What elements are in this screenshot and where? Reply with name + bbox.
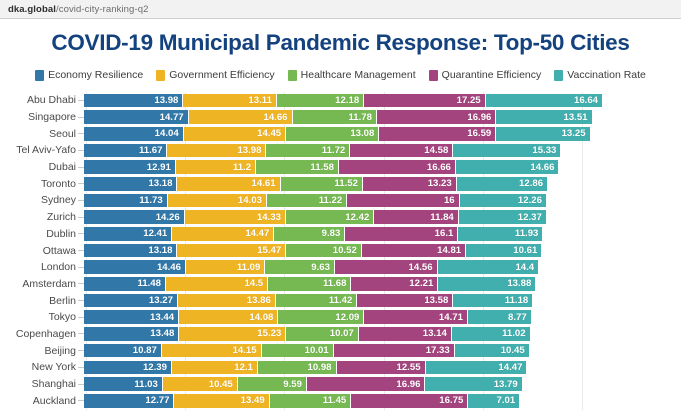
bar-value-label: 16 <box>444 195 455 206</box>
bar-value-label: 13.08 <box>350 128 374 139</box>
bar-value-label: 9.63 <box>311 262 330 273</box>
bar-value-label: 10.52 <box>333 245 357 256</box>
url-domain: dka.global <box>8 4 56 15</box>
legend-item[interactable]: Healthcare Management <box>288 69 416 81</box>
bar-segment[interactable]: 14.56 <box>335 260 438 274</box>
bar-value-label: 13.98 <box>154 95 178 106</box>
bar-value-label: 17.33 <box>426 345 450 356</box>
bar-segment[interactable]: 9.59 <box>238 377 307 391</box>
bar-value-label: 13.88 <box>507 278 531 289</box>
page-content: COVID-19 Municipal Pandemic Response: To… <box>0 19 681 412</box>
bar-segment[interactable]: 13.08 <box>286 127 379 141</box>
legend-label: Government Efficiency <box>169 69 274 81</box>
bar-segment[interactable]: 15.23 <box>179 327 286 341</box>
stacked-bar: 11.7314.0311.221612.26 <box>84 194 546 208</box>
chart-row[interactable]: Abu Dhabi13.9813.1112.1817.2516.64 <box>0 92 681 109</box>
bar-segment[interactable]: 11.48 <box>84 277 166 291</box>
bar-segment[interactable]: 14.61 <box>177 177 280 191</box>
chart-row[interactable]: Dubai12.9111.211.5816.6614.66 <box>0 159 681 176</box>
bar-value-label: 14.08 <box>249 312 273 323</box>
row-label: Seoul <box>0 128 78 140</box>
bar-segment[interactable]: 14.47 <box>426 361 527 375</box>
chart-row[interactable]: Shanghai11.0310.459.5916.9613.79 <box>0 376 681 393</box>
bar-segment[interactable]: 13.98 <box>84 94 183 108</box>
legend-swatch-icon <box>429 70 438 81</box>
bar-segment[interactable]: 10.98 <box>258 361 337 375</box>
bar-value-label: 12.37 <box>518 212 542 223</box>
bar-value-label: 12.1 <box>234 362 253 373</box>
stacked-bar: 14.7714.6611.7816.9613.51 <box>84 110 592 124</box>
bar-segment[interactable]: 10.87 <box>84 344 162 358</box>
bar-segment[interactable]: 14.71 <box>364 310 468 324</box>
bar-segment[interactable]: 15.33 <box>453 144 560 158</box>
bar-value-label: 10.01 <box>305 345 329 356</box>
stacked-bar: 11.6713.9811.7214.5815.33 <box>84 144 560 158</box>
bar-segment[interactable]: 12.09 <box>278 310 364 324</box>
bar-value-label: 12.42 <box>345 212 369 223</box>
bar-value-label: 13.79 <box>494 379 518 390</box>
bar-segment[interactable]: 13.79 <box>425 377 521 391</box>
bar-segment[interactable]: 14.04 <box>84 127 184 141</box>
bar-segment[interactable]: 12.39 <box>84 361 172 375</box>
bar-segment[interactable]: 16.96 <box>377 110 496 124</box>
stacked-bar: 13.1814.6111.5213.2312.86 <box>84 177 547 191</box>
bar-value-label: 13.18 <box>148 245 172 256</box>
url-text: dka.global/covid-city-ranking-q2 <box>8 4 148 15</box>
bar-value-label: 15.33 <box>532 145 556 156</box>
chart-row[interactable]: Beijing10.8714.1510.0117.3310.45 <box>0 342 681 359</box>
bar-segment[interactable]: 11.72 <box>266 144 350 158</box>
bar-value-label: 13.98 <box>237 145 261 156</box>
bar-value-label: 14.33 <box>257 212 281 223</box>
bar-segment[interactable]: 9.83 <box>274 227 345 241</box>
bar-value-label: 11.78 <box>349 112 372 123</box>
bar-segment[interactable]: 16.1 <box>345 227 458 241</box>
bar-segment[interactable]: 10.52 <box>286 244 362 258</box>
bar-value-label: 11.68 <box>323 278 346 289</box>
bar-value-label: 11.45 <box>323 395 346 406</box>
bar-segment[interactable]: 14.03 <box>168 194 267 208</box>
bar-segment[interactable]: 11.03 <box>84 377 163 391</box>
bar-value-label: 10.98 <box>307 362 331 373</box>
bar-segment[interactable]: 14.47 <box>172 227 274 241</box>
bar-segment[interactable]: 13.51 <box>496 110 591 124</box>
legend-item[interactable]: Economy Resilience <box>35 69 143 81</box>
bar-segment[interactable]: 13.49 <box>174 394 269 408</box>
bar-segment[interactable]: 13.48 <box>84 327 179 341</box>
bar-segment[interactable]: 13.18 <box>84 177 177 191</box>
bar-segment[interactable]: 10.61 <box>466 244 541 258</box>
bar-value-label: 12.86 <box>519 178 543 189</box>
bar-value-label: 12.41 <box>143 228 167 239</box>
bar-value-label: 13.58 <box>424 295 448 306</box>
legend-swatch-icon <box>156 70 165 81</box>
bar-segment[interactable]: 12.42 <box>286 210 374 224</box>
row-label: Auckland <box>0 395 78 407</box>
bar-segment[interactable]: 14.66 <box>456 160 559 174</box>
bar-value-label: 16.75 <box>439 395 463 406</box>
bar-segment[interactable]: 16.75 <box>351 394 468 408</box>
legend-label: Quarantine Efficiency <box>442 69 542 81</box>
bar-segment[interactable]: 13.86 <box>178 294 276 308</box>
bar-value-label: 14.47 <box>245 228 269 239</box>
bar-value-label: 14.03 <box>238 195 262 206</box>
bar-value-label: 10.61 <box>513 245 537 256</box>
chart-row[interactable]: Copenhagen13.4815.2310.0713.1411.02 <box>0 326 681 343</box>
bar-value-label: 11.72 <box>322 145 345 156</box>
bar-value-label: 13.48 <box>150 328 174 339</box>
bar-value-label: 13.14 <box>423 328 447 339</box>
bar-value-label: 11.2 <box>233 162 251 173</box>
bar-segment[interactable]: 11.02 <box>452 327 530 341</box>
bar-value-label: 13.23 <box>428 178 452 189</box>
chart-row[interactable]: Berlin13.2713.8611.4213.5811.18 <box>0 292 681 309</box>
bar-segment[interactable]: 14.15 <box>162 344 262 358</box>
legend-label: Economy Resilience <box>48 69 143 81</box>
bar-segment[interactable]: 11.18 <box>453 294 532 308</box>
bar-value-label: 11.52 <box>334 178 357 189</box>
chart-row[interactable]: Amsterdam11.4814.511.6812.2113.88 <box>0 276 681 293</box>
chart-legend: Economy ResilienceGovernment EfficiencyH… <box>0 68 681 82</box>
bar-value-label: 10.07 <box>330 328 354 339</box>
bar-segment[interactable]: 13.18 <box>84 244 177 258</box>
stacked-bar: 11.0310.459.5916.9613.79 <box>84 377 522 391</box>
bar-value-label: 14.45 <box>257 128 281 139</box>
chart-row[interactable]: Auckland12.7713.4911.4516.757.01 <box>0 392 681 409</box>
stacked-bar: 12.9111.211.5816.6614.66 <box>84 160 558 174</box>
bar-value-label: 10.45 <box>209 379 233 390</box>
stacked-bar: 10.8714.1510.0117.3310.45 <box>84 344 529 358</box>
bar-value-label: 16.1 <box>435 228 454 239</box>
row-label: Dubai <box>0 161 78 173</box>
bar-segment[interactable]: 11.73 <box>84 194 168 208</box>
bar-segment[interactable]: 9.63 <box>265 260 335 274</box>
bar-value-label: 13.44 <box>150 312 174 323</box>
bar-value-label: 7.01 <box>497 395 516 406</box>
row-label: New York <box>0 361 78 373</box>
bar-value-label: 11.58 <box>310 162 333 173</box>
legend-swatch-icon <box>35 70 44 81</box>
bar-segment[interactable]: 14.77 <box>84 110 189 124</box>
bar-value-label: 14.66 <box>530 162 554 173</box>
bar-segment[interactable]: 12.55 <box>337 361 426 375</box>
bar-value-label: 10.45 <box>501 345 525 356</box>
chart-row[interactable]: Sydney11.7314.0311.221612.26 <box>0 192 681 209</box>
chart-row[interactable]: New York12.3912.110.9812.5514.47 <box>0 359 681 376</box>
stacked-bar: 12.7713.4911.4516.757.01 <box>84 394 519 408</box>
bar-value-label: 15.47 <box>257 245 281 256</box>
row-label: Shanghai <box>0 378 78 390</box>
stacked-bar: 12.4114.479.8316.111.93 <box>84 227 542 241</box>
chart-row[interactable]: Zurich14.2614.3312.4211.8412.37 <box>0 209 681 226</box>
bar-value-label: 12.39 <box>143 362 167 373</box>
stacked-bar: 12.3912.110.9812.5514.47 <box>84 361 526 375</box>
bar-segment[interactable]: 13.58 <box>357 294 453 308</box>
bar-segment[interactable]: 11.67 <box>84 144 167 158</box>
bar-segment[interactable]: 11.52 <box>281 177 363 191</box>
row-label: Abu Dhabi <box>0 94 78 106</box>
bar-segment[interactable]: 13.11 <box>183 94 277 108</box>
bar-segment[interactable]: 11.68 <box>268 277 351 291</box>
bar-segment[interactable]: 14.26 <box>84 210 185 224</box>
row-label: Zurich <box>0 211 78 223</box>
bar-value-label: 14.47 <box>498 362 522 373</box>
stacked-bar: 14.0414.4513.0816.5913.25 <box>84 127 590 141</box>
row-label: Dublin <box>0 228 78 240</box>
legend-swatch-icon <box>288 70 297 81</box>
chart-row[interactable]: Seoul14.0414.4513.0816.5913.25 <box>0 125 681 142</box>
bar-segment[interactable]: 12.21 <box>351 277 438 291</box>
bar-segment[interactable]: 11.58 <box>256 160 339 174</box>
stacked-bar: 11.4814.511.6812.2113.88 <box>84 277 535 291</box>
row-label: Berlin <box>0 295 78 307</box>
bar-value-label: 14.56 <box>409 262 433 273</box>
bar-segment[interactable]: 10.01 <box>262 344 334 358</box>
bar-segment[interactable]: 13.98 <box>167 144 266 158</box>
bar-segment[interactable]: 10.45 <box>455 344 529 358</box>
bar-value-label: 11.84 <box>430 212 453 223</box>
bar-segment[interactable]: 17.25 <box>364 94 485 108</box>
bar-segment[interactable]: 16.66 <box>339 160 456 174</box>
legend-swatch-icon <box>554 70 563 81</box>
bar-value-label: 13.86 <box>247 295 271 306</box>
browser-url-bar[interactable]: dka.global/covid-city-ranking-q2 <box>0 0 681 19</box>
row-label: Tokyo <box>0 311 78 323</box>
chart-rows: Abu Dhabi13.9813.1112.1817.2516.64Singap… <box>0 92 681 410</box>
bar-value-label: 14.04 <box>155 128 179 139</box>
bar-segment[interactable]: 10.07 <box>286 327 358 341</box>
legend-label: Vaccination Rate <box>567 69 646 81</box>
bar-value-label: 12.26 <box>518 195 542 206</box>
bar-value-label: 14.81 <box>437 245 461 256</box>
bar-segment[interactable]: 16 <box>347 194 459 208</box>
bar-value-label: 14.15 <box>233 345 257 356</box>
bar-segment[interactable]: 12.26 <box>460 194 546 208</box>
row-label: Toronto <box>0 178 78 190</box>
chart-row[interactable]: Singapore14.7714.6611.7816.9613.51 <box>0 109 681 126</box>
stacked-bar: 13.4414.0812.0914.718.77 <box>84 310 531 324</box>
bar-segment[interactable]: 14.08 <box>179 310 278 324</box>
chart-row[interactable]: Tokyo13.4414.0812.0914.718.77 <box>0 309 681 326</box>
row-label: Singapore <box>0 111 78 123</box>
legend-label: Healthcare Management <box>301 69 416 81</box>
bar-segment[interactable]: 11.22 <box>267 194 347 208</box>
bar-value-label: 11.18 <box>505 295 528 306</box>
bar-value-label: 12.55 <box>397 362 421 373</box>
bar-value-label: 11.22 <box>319 195 342 206</box>
bar-segment[interactable]: 11.93 <box>458 227 542 241</box>
stacked-bar: 13.9813.1112.1817.2516.64 <box>84 94 602 108</box>
stacked-bar: 13.2713.8611.4213.5811.18 <box>84 294 532 308</box>
url-path: /covid-city-ranking-q2 <box>56 4 148 15</box>
bar-value-label: 11.73 <box>139 195 162 206</box>
bar-value-label: 14.5 <box>244 278 263 289</box>
bar-segment[interactable]: 14.5 <box>166 277 268 291</box>
bar-value-label: 16.59 <box>467 128 491 139</box>
bar-segment[interactable]: 11.42 <box>276 294 358 308</box>
bar-value-label: 14.4 <box>515 262 534 273</box>
bar-value-label: 12.18 <box>335 95 359 106</box>
bar-segment[interactable]: 14.4 <box>438 260 539 274</box>
row-label: Amsterdam <box>0 278 78 290</box>
bar-value-label: 9.59 <box>283 379 302 390</box>
bar-value-label: 11.67 <box>139 145 162 156</box>
bar-segment[interactable]: 12.41 <box>84 227 172 241</box>
row-label: Beijing <box>0 345 78 357</box>
chart-row[interactable]: Dublin12.4114.479.8316.111.93 <box>0 226 681 243</box>
bar-segment[interactable]: 13.25 <box>496 127 589 141</box>
chart-row[interactable]: Tel Aviv-Yafo11.6713.9811.7214.5815.33 <box>0 142 681 159</box>
bar-value-label: 12.91 <box>147 162 171 173</box>
row-label: Sydney <box>0 194 78 206</box>
bar-value-label: 13.25 <box>562 128 586 139</box>
legend-item[interactable]: Vaccination Rate <box>554 69 646 81</box>
stacked-bar: 14.4611.099.6314.5614.4 <box>84 260 538 274</box>
stacked-bar: 13.1815.4710.5214.8110.61 <box>84 244 541 258</box>
bar-segment[interactable]: 12.86 <box>457 177 547 191</box>
bar-segment[interactable]: 11.78 <box>293 110 377 124</box>
bar-value-label: 13.11 <box>248 95 271 106</box>
bar-segment[interactable]: 14.33 <box>185 210 286 224</box>
bar-value-label: 12.77 <box>145 395 169 406</box>
bar-segment[interactable]: 17.33 <box>334 344 455 358</box>
bar-segment[interactable]: 16.64 <box>486 94 602 108</box>
bar-value-label: 11.03 <box>134 379 157 390</box>
bar-value-label: 11.93 <box>515 228 538 239</box>
row-label: London <box>0 261 78 273</box>
row-label: Ottawa <box>0 245 78 257</box>
bar-segment[interactable]: 13.23 <box>363 177 457 191</box>
bar-value-label: 14.66 <box>264 112 288 123</box>
bar-segment[interactable]: 12.1 <box>172 361 258 375</box>
bar-value-label: 8.77 <box>508 312 527 323</box>
bar-segment[interactable]: 14.58 <box>350 144 453 158</box>
bar-segment[interactable]: 16.59 <box>379 127 496 141</box>
row-label: Copenhagen <box>0 328 78 340</box>
bar-value-label: 10.87 <box>133 345 157 356</box>
bar-value-label: 14.77 <box>160 112 184 123</box>
bar-value-label: 11.02 <box>502 328 525 339</box>
legend-item[interactable]: Government Efficiency <box>156 69 274 81</box>
bar-value-label: 11.09 <box>237 262 260 273</box>
chart-row[interactable]: Toronto13.1814.6111.5213.2312.86 <box>0 175 681 192</box>
bar-segment[interactable]: 14.45 <box>184 127 286 141</box>
bar-segment[interactable]: 11.09 <box>186 260 265 274</box>
bar-segment[interactable]: 13.44 <box>84 310 179 324</box>
bar-segment[interactable]: 7.01 <box>468 394 519 408</box>
bar-value-label: 17.25 <box>457 95 481 106</box>
bar-value-label: 14.71 <box>439 312 463 323</box>
bar-segment[interactable]: 13.14 <box>359 327 452 341</box>
bar-value-label: 14.58 <box>424 145 448 156</box>
bar-value-label: 15.23 <box>257 328 281 339</box>
bar-segment[interactable]: 14.66 <box>189 110 293 124</box>
bar-segment[interactable]: 12.18 <box>277 94 364 108</box>
bar-segment[interactable]: 14.46 <box>84 260 186 274</box>
bar-segment[interactable]: 11.2 <box>176 160 256 174</box>
bar-value-label: 13.27 <box>149 295 173 306</box>
bar-segment[interactable]: 16.96 <box>307 377 426 391</box>
row-label: Tel Aviv-Yafo <box>0 144 78 156</box>
bar-value-label: 14.46 <box>157 262 181 273</box>
bar-segment[interactable]: 15.47 <box>177 244 286 258</box>
bar-value-label: 13.49 <box>241 395 265 406</box>
bar-segment[interactable]: 10.45 <box>163 377 238 391</box>
bar-segment[interactable]: 13.88 <box>438 277 535 291</box>
bar-value-label: 12.09 <box>335 312 359 323</box>
bar-value-label: 16.64 <box>574 95 598 106</box>
bar-segment[interactable]: 13.27 <box>84 294 178 308</box>
bar-segment[interactable]: 14.81 <box>362 244 466 258</box>
bar-segment[interactable]: 8.77 <box>468 310 531 324</box>
bar-value-label: 16.66 <box>427 162 451 173</box>
bar-value-label: 12.21 <box>409 278 433 289</box>
bar-value-label: 16.96 <box>467 112 491 123</box>
bar-segment[interactable]: 12.91 <box>84 160 176 174</box>
bar-value-label: 9.83 <box>322 228 341 239</box>
bar-value-label: 11.48 <box>137 278 160 289</box>
bar-segment[interactable]: 12.77 <box>84 394 174 408</box>
page-title: COVID-19 Municipal Pandemic Response: To… <box>0 19 681 56</box>
stacked-bar: 13.4815.2310.0713.1411.02 <box>84 327 530 341</box>
chart-plot-area: Abu Dhabi13.9813.1112.1817.2516.64Singap… <box>0 92 681 410</box>
legend-item[interactable]: Quarantine Efficiency <box>429 69 542 81</box>
bar-segment[interactable]: 11.45 <box>270 394 352 408</box>
chart-row[interactable]: London14.4611.099.6314.5614.4 <box>0 259 681 276</box>
bar-segment[interactable]: 11.84 <box>374 210 458 224</box>
bar-value-label: 13.18 <box>148 178 172 189</box>
stacked-bar: 14.2614.3312.4211.8412.37 <box>84 210 546 224</box>
chart-row[interactable]: Ottawa13.1815.4710.5214.8110.61 <box>0 242 681 259</box>
bar-value-label: 13.51 <box>564 112 588 123</box>
bar-value-label: 14.61 <box>252 178 276 189</box>
bar-value-label: 11.42 <box>329 295 352 306</box>
bar-value-label: 14.26 <box>156 212 180 223</box>
bar-segment[interactable]: 12.37 <box>459 210 546 224</box>
bar-value-label: 16.96 <box>396 379 420 390</box>
